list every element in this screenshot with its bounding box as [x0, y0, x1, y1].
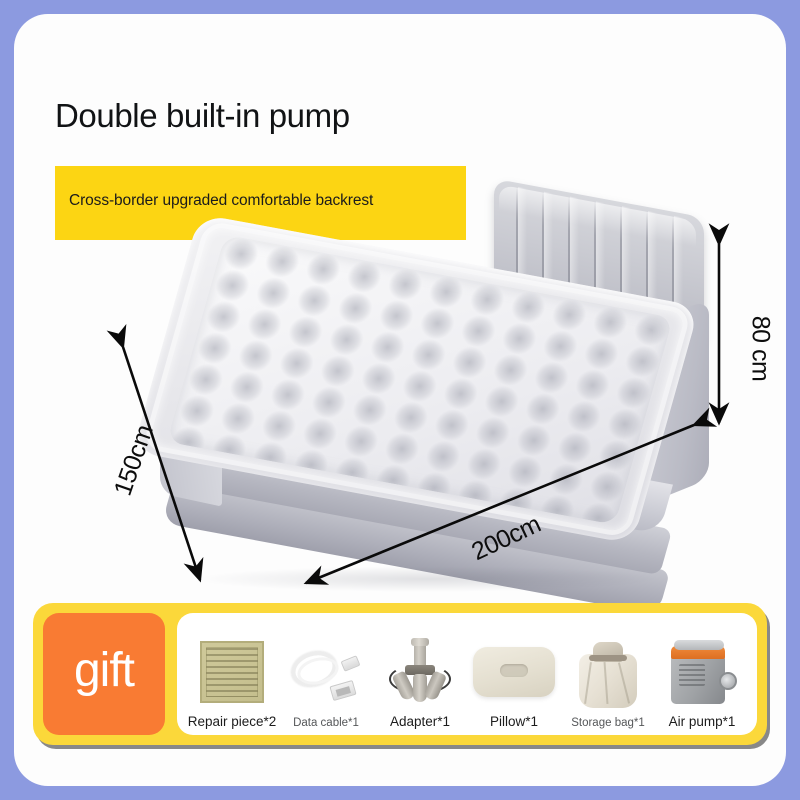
adapter-icon: [373, 632, 467, 712]
gift-item-label: Pillow*1: [490, 714, 538, 729]
gift-item-label: Data cable*1: [293, 717, 359, 729]
gift-item-label: Storage bag*1: [571, 717, 645, 729]
data-cable-icon: [279, 635, 373, 715]
gift-panel: gift Repair piece*2: [33, 603, 767, 745]
gift-item-repair-piece: Repair piece*2: [185, 619, 279, 729]
gift-items-list: Repair piece*2 Data cable*1: [177, 613, 757, 735]
gift-item-adapter: Adapter*1: [373, 619, 467, 729]
product-card: Double built-in pump Cross-border upgrad…: [14, 14, 786, 786]
pillow-icon: [467, 632, 561, 712]
gift-item-label: Adapter*1: [390, 714, 450, 729]
gift-badge-label: gift: [74, 647, 134, 701]
gift-item-pillow: Pillow*1: [467, 619, 561, 729]
gift-badge: gift: [43, 613, 165, 735]
air-bed-illustration: [164, 194, 709, 614]
dimension-label-width: 150cm: [109, 421, 160, 499]
gift-item-air-pump: Air pump*1: [655, 619, 749, 729]
bed-contact-shadow: [191, 566, 668, 592]
gift-item-data-cable: Data cable*1: [279, 619, 373, 729]
gift-item-label: Air pump*1: [669, 714, 736, 729]
page-title: Double built-in pump: [55, 97, 350, 135]
gift-item-label: Repair piece*2: [188, 714, 277, 729]
repair-piece-icon: [185, 632, 279, 712]
dimension-label-height: 80 cm: [745, 316, 774, 382]
gift-panel-inner: gift Repair piece*2: [43, 613, 757, 735]
air-pump-icon: [655, 632, 749, 712]
screenshot-stage: Double built-in pump Cross-border upgrad…: [0, 0, 800, 800]
storage-bag-icon: [561, 635, 655, 715]
gift-item-storage-bag: Storage bag*1: [561, 619, 655, 729]
